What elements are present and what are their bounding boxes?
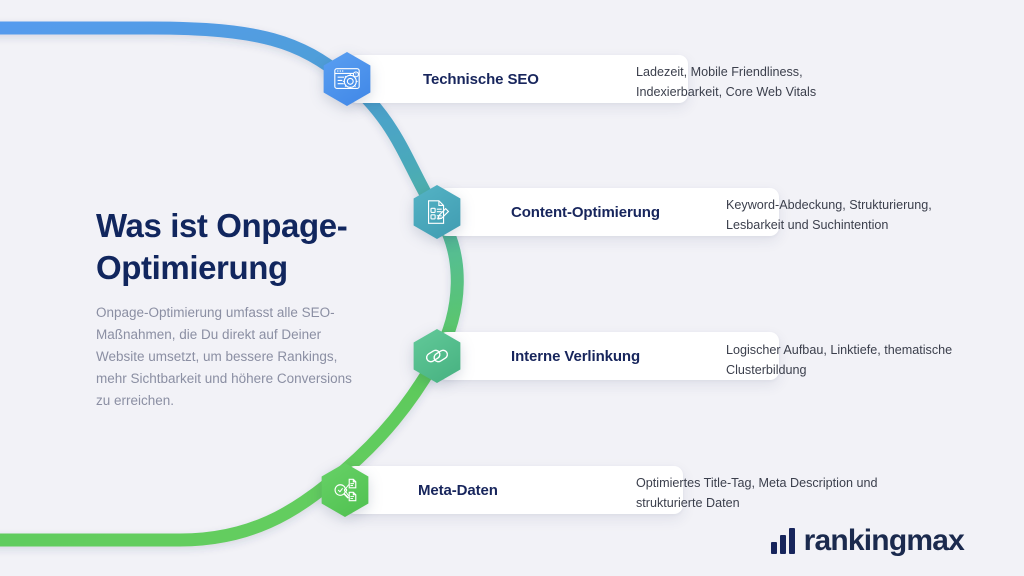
infographic-canvas: Was ist Onpage-Optimierung Onpage-Optimi… — [0, 0, 1024, 576]
logo-text: rankingmax — [804, 524, 964, 558]
node-hex-badge[interactable] — [410, 329, 464, 383]
chain-link-icon — [410, 329, 464, 383]
document-pen-icon — [410, 185, 464, 239]
node-description-content-optimierung: Keyword-Abdeckung, Strukturierung, Lesba… — [726, 195, 966, 236]
browser-gear-seo-icon — [320, 52, 374, 106]
node-description-technische-seo: Ladezeit, Mobile Friendliness, Indexierb… — [636, 62, 886, 103]
intro-block: Was ist Onpage-Optimierung Onpage-Optimi… — [96, 205, 354, 411]
node-label: Content-Optimierung — [511, 204, 660, 221]
node-label: Technische SEO — [423, 71, 539, 88]
node-description-meta-daten: Optimiertes Title-Tag, Meta Description … — [636, 473, 891, 514]
node-card[interactable]: Meta-Daten — [346, 466, 683, 514]
node-hex-badge[interactable] — [318, 463, 372, 517]
node-description-interne-verlinkung: Logischer Aufbau, Linktiefe, thematische… — [726, 340, 966, 381]
node-label: Meta-Daten — [418, 482, 498, 499]
node-label: Interne Verlinkung — [511, 348, 640, 365]
magnifier-documents-icon — [318, 463, 372, 517]
intro-paragraph: Onpage-Optimierung umfasst alle SEO-Maßn… — [96, 302, 354, 411]
node-hex-badge[interactable] — [410, 185, 464, 239]
rankingmax-logo: rankingmax — [771, 524, 964, 558]
bar-chart-icon — [771, 528, 795, 554]
page-title: Was ist Onpage-Optimierung — [96, 205, 354, 288]
node-hex-badge[interactable] — [320, 52, 374, 106]
